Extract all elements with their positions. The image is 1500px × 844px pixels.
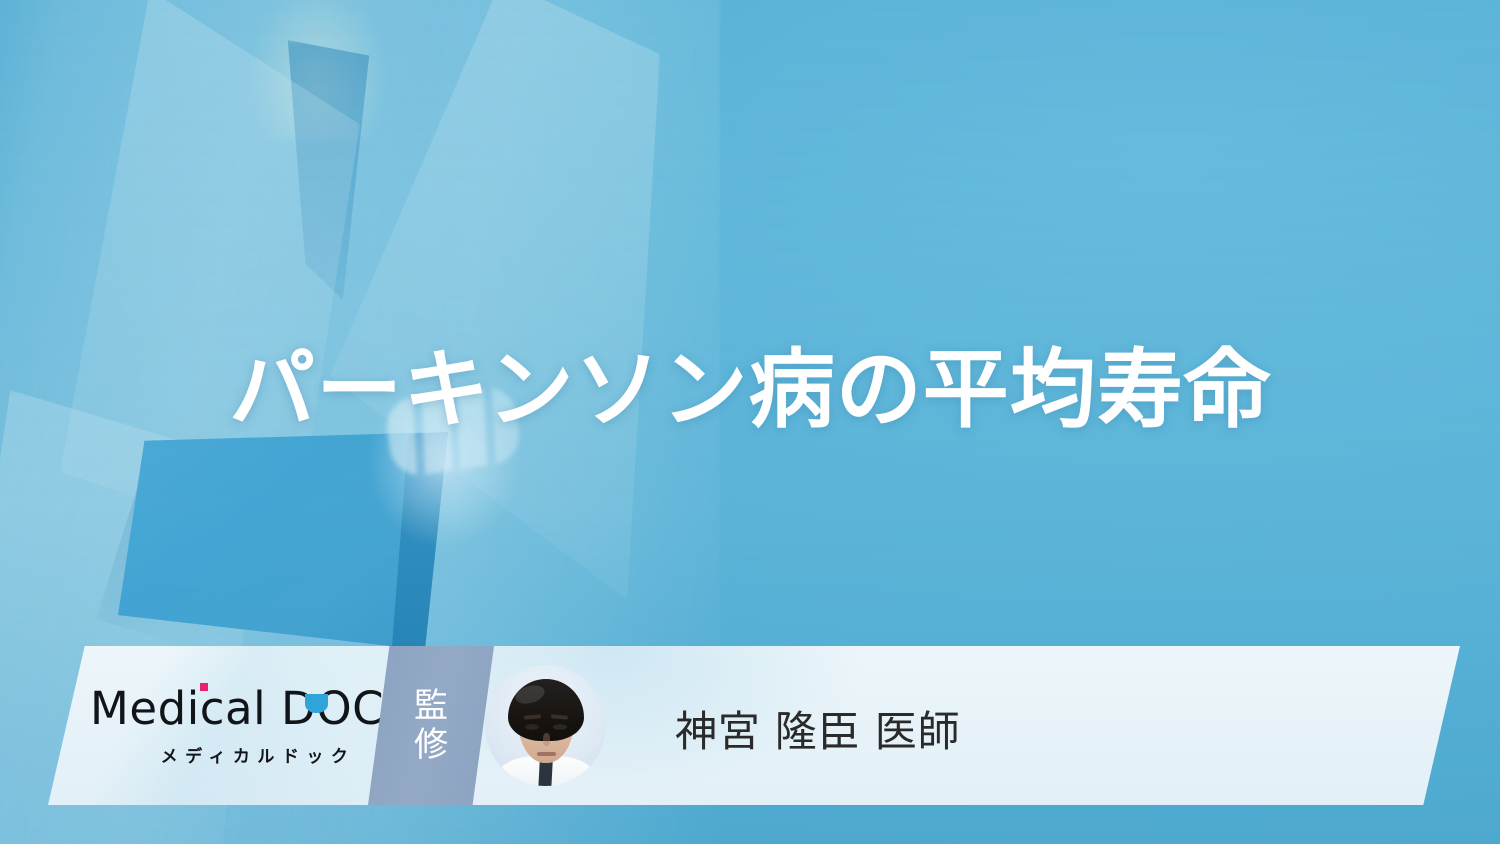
logo-i-dot-icon — [200, 683, 208, 691]
logo-wordmark: Medical DOC — [90, 686, 380, 731]
page-title: パーキンソン病の平均寿命 — [229, 345, 1271, 435]
credit-banner: Medical DOC メディカルドック 監 修 神宮 隆臣 医師 — [48, 646, 1460, 805]
headline-container: パーキンソン病の平均寿命 — [0, 330, 1500, 450]
medical-doc-logo[interactable]: Medical DOC メディカルドック — [90, 686, 380, 778]
logo-kana-subtitle: メディカルドック — [90, 742, 380, 767]
supervisor-name: 神宮 隆臣 医師 — [675, 698, 960, 759]
supervision-label-line2: 修 — [414, 726, 448, 765]
slide-canvas: パーキンソン病の平均寿命 Medical DOC メディカルドック 監 修 — [0, 0, 1500, 844]
avatar-eye-left — [525, 724, 539, 730]
logo-beaker-fill-icon — [305, 694, 328, 713]
supervision-label-line1: 監 — [414, 687, 448, 726]
avatar-hair — [508, 679, 584, 741]
supervision-badge: 監 修 — [368, 646, 494, 805]
avatar-nose — [543, 733, 550, 746]
avatar-eye-right — [553, 724, 567, 730]
avatar — [485, 665, 606, 786]
avatar-mouth — [537, 752, 556, 756]
